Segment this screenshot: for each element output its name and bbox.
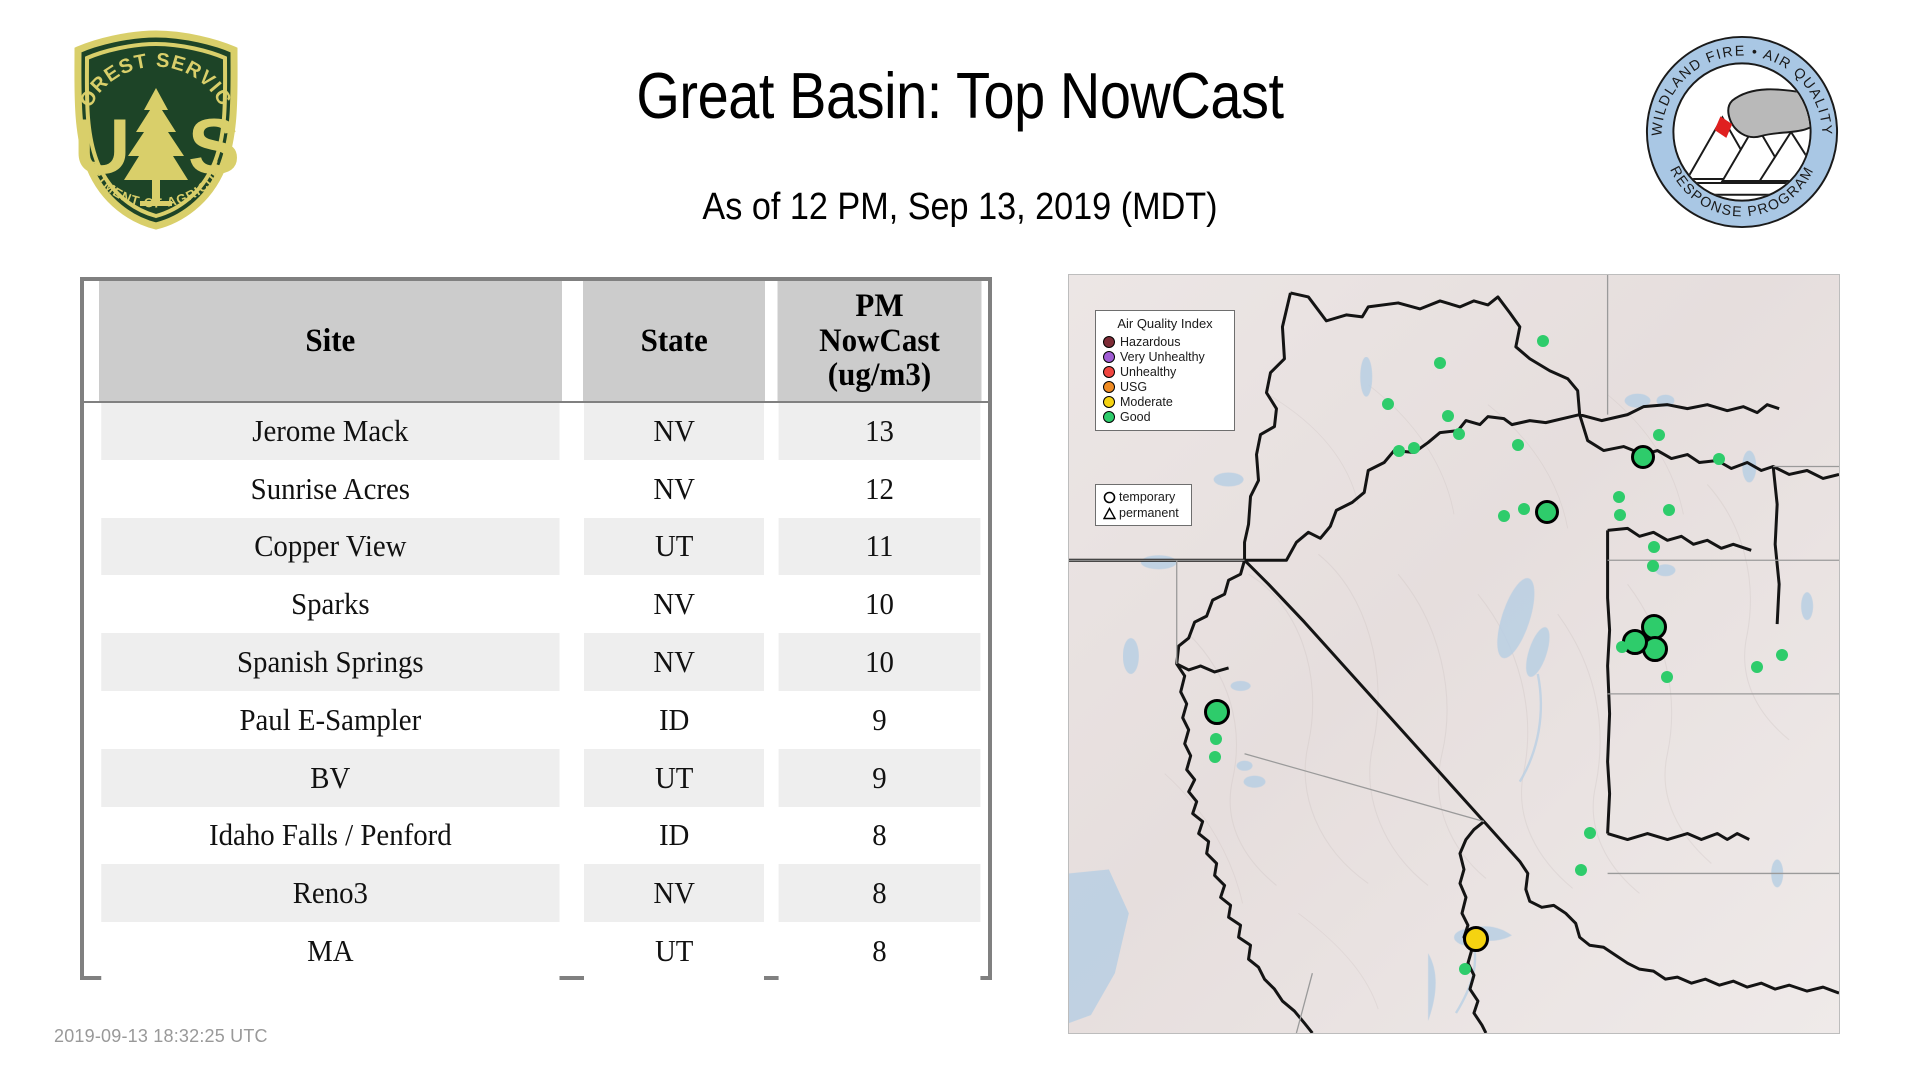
value-cell: 10 — [779, 575, 981, 633]
usfs-shield-logo: FOREST SERVICE DEPARTMENT OF AGRICULTURE… — [56, 30, 256, 230]
monitor-marker[interactable] — [1575, 864, 1587, 876]
monitor-marker[interactable] — [1751, 661, 1763, 673]
column-header-site: Site — [99, 281, 562, 402]
table-row: Copper ViewUT11 — [84, 518, 988, 576]
usfs-letter-s: S — [188, 102, 240, 190]
state-cell: ID — [583, 807, 764, 865]
monitor-marker[interactable] — [1616, 641, 1628, 653]
table-body: Jerome MackNV13Sunrise AcresNV12Copper V… — [84, 402, 988, 980]
value-cell: 8 — [779, 807, 981, 865]
value-cell: 13 — [779, 402, 981, 460]
state-cell: NV — [583, 460, 764, 518]
site-cell: Sunrise Acres — [101, 460, 559, 518]
site-cell: Reno3 — [101, 864, 559, 922]
nowcast-table: Site State PM NowCast (ug/m3) Jerome Mac… — [84, 281, 988, 980]
monitor-marker[interactable] — [1661, 671, 1673, 683]
state-cell: ID — [583, 691, 764, 749]
state-cell: UT — [583, 749, 764, 807]
monitor-marker[interactable] — [1512, 439, 1524, 451]
state-cell: NV — [583, 633, 764, 691]
table-row: Spanish SpringsNV10 — [84, 633, 988, 691]
table-row: MAUT8 — [84, 922, 988, 980]
state-cell: UT — [583, 922, 764, 980]
page-subtitle: As of 12 PM, Sep 13, 2019 (MDT) — [366, 186, 1554, 229]
value-cell: 8 — [779, 922, 981, 980]
monitor-marker[interactable] — [1204, 699, 1230, 725]
units-label: (ug/m3) — [778, 358, 982, 393]
column-header-pm-nowcast: PM NowCast (ug/m3) — [778, 281, 982, 402]
state-cell: NV — [583, 864, 764, 922]
monitor-marker[interactable] — [1631, 445, 1655, 469]
generated-timestamp: 2019-09-13 18:32:25 UTC — [54, 1026, 268, 1047]
monitor-marker[interactable] — [1613, 491, 1625, 503]
wfaqrp-logo: WILDLAND FIRE • AIR QUALITY RESPONSE PRO… — [1644, 34, 1840, 230]
pm-label: PM — [778, 289, 982, 324]
monitor-marker[interactable] — [1453, 428, 1465, 440]
monitor-marker[interactable] — [1648, 541, 1660, 553]
value-cell: 11 — [779, 518, 981, 576]
state-cell: NV — [583, 402, 764, 460]
table-row: Jerome MackNV13 — [84, 402, 988, 460]
site-cell: BV — [101, 749, 559, 807]
value-cell: 8 — [779, 864, 981, 922]
monitor-marker[interactable] — [1463, 926, 1489, 952]
state-cell: UT — [583, 518, 764, 576]
table-row: Reno3NV8 — [84, 864, 988, 922]
table-header-row: Site State PM NowCast (ug/m3) — [84, 281, 988, 402]
monitor-marker[interactable] — [1653, 429, 1665, 441]
monitor-marker[interactable] — [1518, 503, 1530, 515]
monitor-marker[interactable] — [1614, 509, 1626, 521]
monitor-marker[interactable] — [1647, 560, 1659, 572]
monitor-marker-layer — [1069, 275, 1839, 1033]
usfs-letter-u: U — [74, 102, 130, 190]
air-quality-map[interactable]: Air Quality Index HazardousVery Unhealth… — [1068, 274, 1840, 1034]
value-cell: 9 — [779, 749, 981, 807]
table-header: Site State PM NowCast (ug/m3) — [84, 281, 988, 402]
site-cell: Paul E-Sampler — [101, 691, 559, 749]
nowcast-table-container: Site State PM NowCast (ug/m3) Jerome Mac… — [80, 277, 992, 980]
site-cell: MA — [101, 922, 559, 980]
monitor-marker[interactable] — [1535, 500, 1559, 524]
monitor-marker[interactable] — [1663, 504, 1675, 516]
nowcast-label: NowCast — [778, 324, 982, 359]
column-header-state: State — [583, 281, 766, 402]
value-cell: 12 — [779, 460, 981, 518]
monitor-marker[interactable] — [1776, 649, 1788, 661]
monitor-marker[interactable] — [1459, 963, 1471, 975]
table-row: SparksNV10 — [84, 575, 988, 633]
monitor-marker[interactable] — [1537, 335, 1549, 347]
value-cell: 10 — [779, 633, 981, 691]
table-row: Sunrise AcresNV12 — [84, 460, 988, 518]
page-title: Great Basin: Top NowCast — [392, 58, 1527, 133]
state-cell: NV — [583, 575, 764, 633]
slide-root: FOREST SERVICE DEPARTMENT OF AGRICULTURE… — [0, 0, 1920, 1080]
monitor-marker[interactable] — [1584, 827, 1596, 839]
table-row: BVUT9 — [84, 749, 988, 807]
monitor-marker[interactable] — [1434, 357, 1446, 369]
table-row: Paul E-SamplerID9 — [84, 691, 988, 749]
monitor-marker[interactable] — [1713, 453, 1725, 465]
monitor-marker[interactable] — [1382, 398, 1394, 410]
monitor-marker[interactable] — [1209, 751, 1221, 763]
monitor-marker[interactable] — [1408, 442, 1420, 454]
site-cell: Jerome Mack — [101, 402, 559, 460]
monitor-marker[interactable] — [1393, 445, 1405, 457]
site-cell: Spanish Springs — [101, 633, 559, 691]
table-row: Idaho Falls / PenfordID8 — [84, 807, 988, 865]
site-cell: Sparks — [101, 575, 559, 633]
monitor-marker[interactable] — [1442, 410, 1454, 422]
site-cell: Idaho Falls / Penford — [101, 807, 559, 865]
monitor-marker[interactable] — [1498, 510, 1510, 522]
monitor-marker[interactable] — [1210, 733, 1222, 745]
site-cell: Copper View — [101, 518, 559, 576]
value-cell: 9 — [779, 691, 981, 749]
